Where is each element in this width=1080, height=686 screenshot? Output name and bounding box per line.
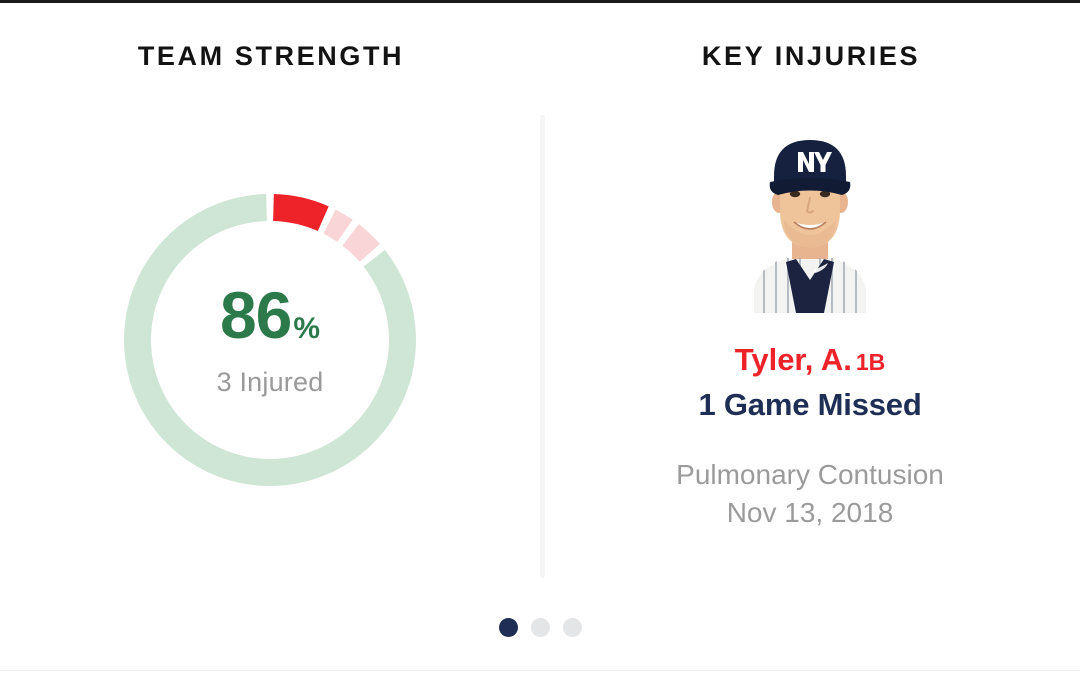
team-strength-donut-chart <box>110 180 430 500</box>
player-headshot-icon <box>710 128 910 313</box>
donut-segment-injured <box>273 194 329 231</box>
pagination-dot-1[interactable] <box>499 618 518 637</box>
pagination-dot-2[interactable] <box>531 618 550 637</box>
injured-player-name-row: Tyler, A.1B <box>600 343 1020 377</box>
games-missed-label: 1 Game Missed <box>600 387 1020 423</box>
panel-title-key-injuries: KEY INJURIES <box>542 41 1080 72</box>
key-injury-player-card[interactable]: Tyler, A.1B 1 Game Missed Pulmonary Cont… <box>600 128 1020 529</box>
panel-divider <box>540 115 545 578</box>
injury-date-label: Nov 13, 2018 <box>600 497 1020 529</box>
pagination-dot-3[interactable] <box>563 618 582 637</box>
injured-player-name: Tyler, A. <box>735 342 852 377</box>
donut-segment-minor-injury-b <box>323 210 352 242</box>
carousel-pagination[interactable] <box>0 618 1080 637</box>
panel-title-team-strength: TEAM STRENGTH <box>0 41 542 72</box>
donut-svg <box>110 180 430 500</box>
card-top-rule <box>0 0 1080 3</box>
donut-segment-minor-injury-a <box>342 224 380 262</box>
donut-segments <box>124 194 416 486</box>
card-bottom-rule <box>0 670 1080 671</box>
injured-player-position: 1B <box>856 349 885 375</box>
dashboard-card: TEAM STRENGTH KEY INJURIES 86 % 3 Injure… <box>0 0 1080 686</box>
injury-type-label: Pulmonary Contusion <box>600 459 1020 491</box>
